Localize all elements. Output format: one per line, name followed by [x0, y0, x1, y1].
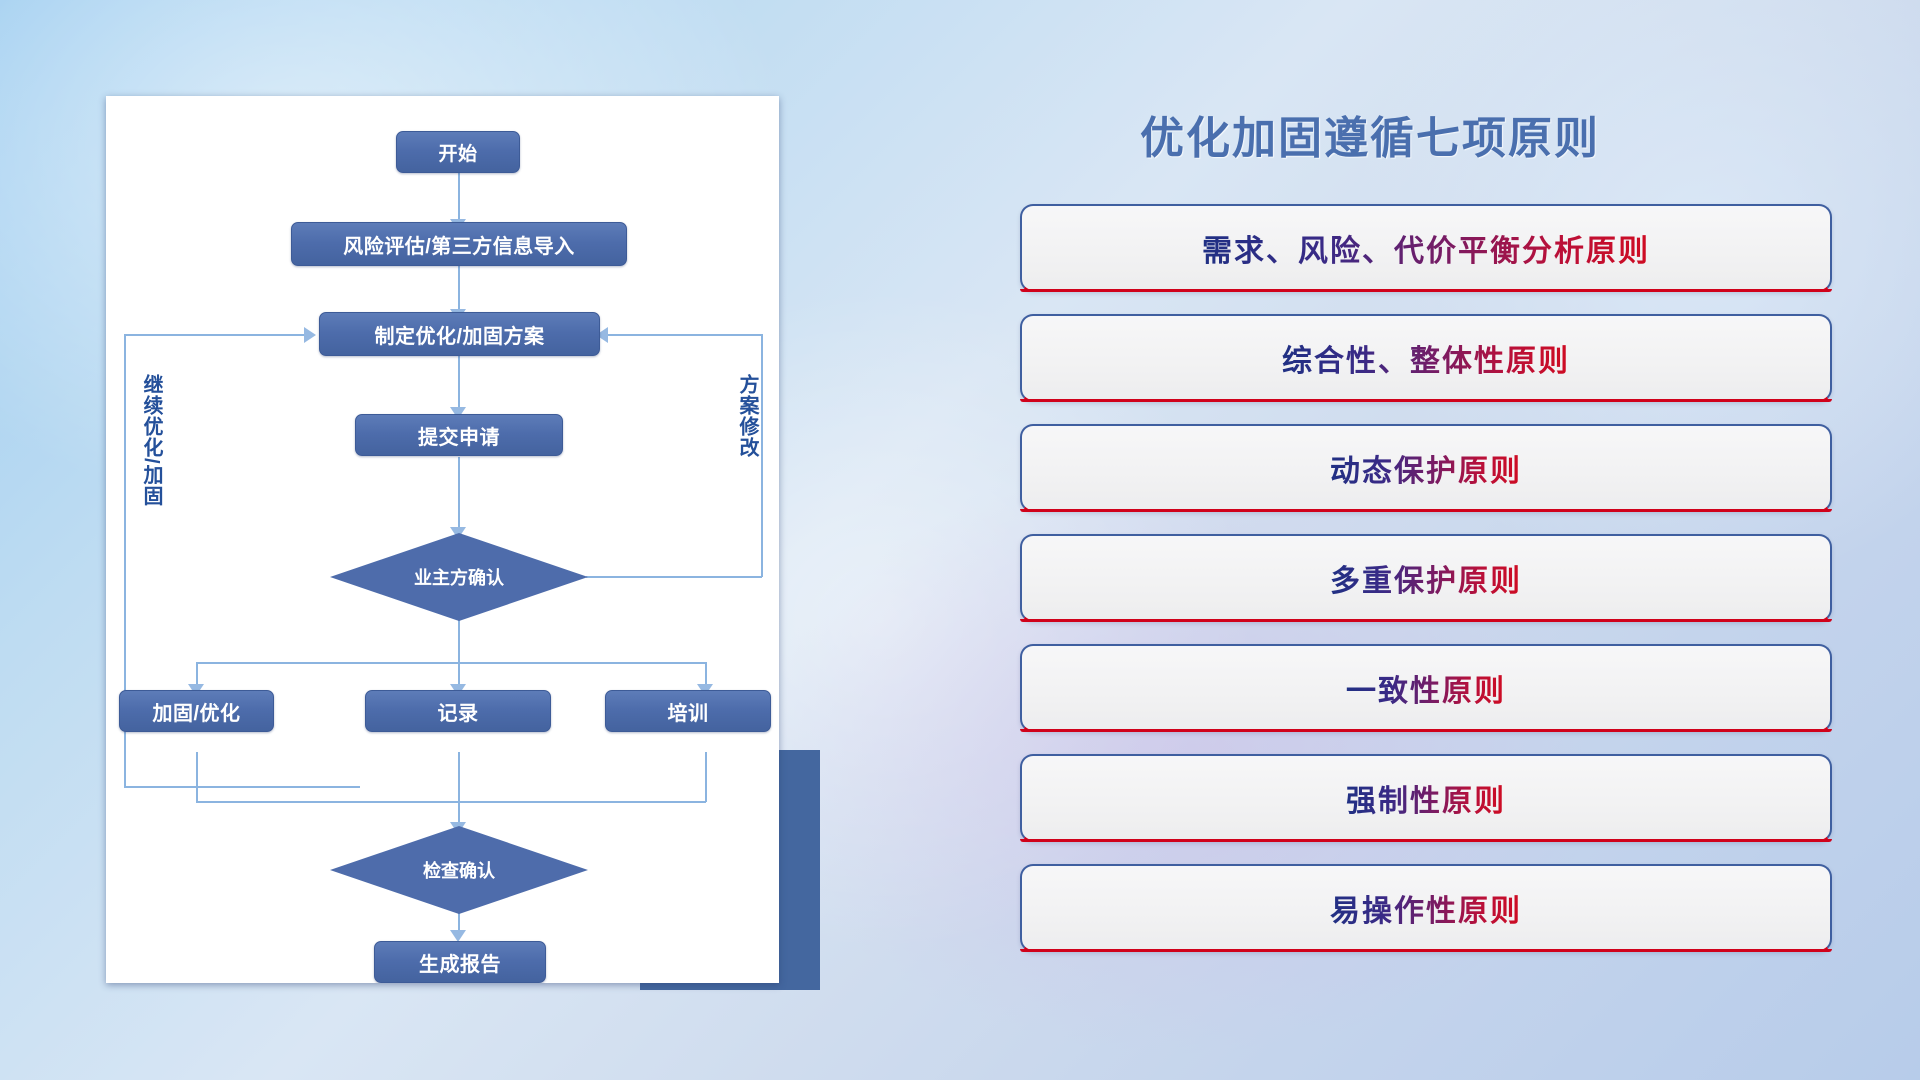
- flow-node-reinforce-label: 加固/优化: [152, 697, 240, 726]
- principle-item-4[interactable]: 多重保护原则: [1020, 534, 1832, 622]
- principle-label: 综合性、整体性原则: [1282, 336, 1570, 380]
- flow-node-risk-assessment-label: 风险评估/第三方信息导入: [343, 230, 575, 259]
- principle-label: 一致性原则: [1346, 666, 1506, 710]
- principle-item-7[interactable]: 易操作性原则: [1020, 864, 1832, 952]
- flow-node-start[interactable]: 开始: [396, 131, 520, 173]
- principle-label: 需求、风险、代价平衡分析原则: [1202, 226, 1650, 270]
- flow-node-plan-label: 制定优化/加固方案: [374, 320, 544, 349]
- flow-node-start-label: 开始: [438, 139, 477, 166]
- principle-label: 强制性原则: [1346, 776, 1506, 820]
- flow-node-inspect-confirm[interactable]: 检查确认: [330, 826, 588, 914]
- principle-item-6[interactable]: 强制性原则: [1020, 754, 1832, 842]
- principle-item-5[interactable]: 一致性原则: [1020, 644, 1832, 732]
- flow-node-inspect-confirm-label: 检查确认: [423, 857, 495, 883]
- connector-submit-to-owner: [458, 457, 460, 533]
- principle-item-1[interactable]: 需求、风险、代价平衡分析原则: [1020, 204, 1832, 292]
- principle-item-2[interactable]: 综合性、整体性原则: [1020, 314, 1832, 402]
- principle-label: 多重保护原则: [1330, 556, 1522, 600]
- connector-merge-mid: [458, 752, 460, 828]
- flow-node-submit-label: 提交申请: [418, 421, 500, 450]
- flow-node-training-label: 培训: [668, 697, 709, 726]
- connector-right-to-plan: [606, 334, 762, 336]
- principle-item-3[interactable]: 动态保护原则: [1020, 424, 1832, 512]
- principle-list: 需求、风险、代价平衡分析原则 综合性、整体性原则 动态保护原则 多重保护原则 一…: [1020, 204, 1850, 952]
- connector-owner-right: [586, 576, 762, 578]
- principles-panel: 优化加固遵循七项原则 需求、风险、代价平衡分析原则 综合性、整体性原则 动态保护…: [1020, 96, 1850, 1036]
- flow-node-risk-assessment[interactable]: 风险评估/第三方信息导入: [291, 222, 627, 266]
- flow-node-record-label: 记录: [438, 697, 479, 726]
- connector-split-bus: [196, 662, 706, 664]
- arrowhead-left-loop-into-plan: [304, 327, 316, 343]
- connector-inspect-left: [124, 786, 360, 788]
- flow-node-submit[interactable]: 提交申请: [355, 414, 563, 456]
- page-title: 优化加固遵循七项原则: [1020, 102, 1720, 166]
- connector-merge-right: [705, 752, 707, 802]
- connector-risk-to-plan: [458, 263, 460, 315]
- connector-merge-left: [196, 752, 198, 802]
- flow-node-record[interactable]: 记录: [365, 690, 551, 732]
- edge-label-left-loop: 继续优化/加固: [137, 374, 166, 507]
- flow-node-owner-confirm-label: 业主方确认: [414, 564, 504, 590]
- flow-node-report-label: 生成报告: [419, 948, 501, 977]
- connector-plan-to-submit: [458, 355, 460, 413]
- principle-label: 动态保护原则: [1330, 446, 1522, 490]
- principle-label: 易操作性原则: [1330, 886, 1522, 930]
- flowchart-card: 开始 风险评估/第三方信息导入 制定优化/加固方案 提交申请 业主方确认 加固/…: [106, 96, 779, 983]
- connector-start-to-risk: [458, 171, 460, 225]
- flow-node-owner-confirm[interactable]: 业主方确认: [330, 533, 588, 621]
- edge-label-right-loop: 方案修改: [733, 374, 762, 458]
- connector-merge-bus: [196, 801, 706, 803]
- flow-node-report[interactable]: 生成报告: [374, 941, 546, 983]
- flow-node-reinforce[interactable]: 加固/优化: [119, 690, 274, 732]
- connector-owner-down: [458, 620, 460, 663]
- flow-node-plan[interactable]: 制定优化/加固方案: [319, 312, 600, 356]
- flow-node-training[interactable]: 培训: [605, 690, 771, 732]
- connector-left-to-plan: [124, 334, 312, 336]
